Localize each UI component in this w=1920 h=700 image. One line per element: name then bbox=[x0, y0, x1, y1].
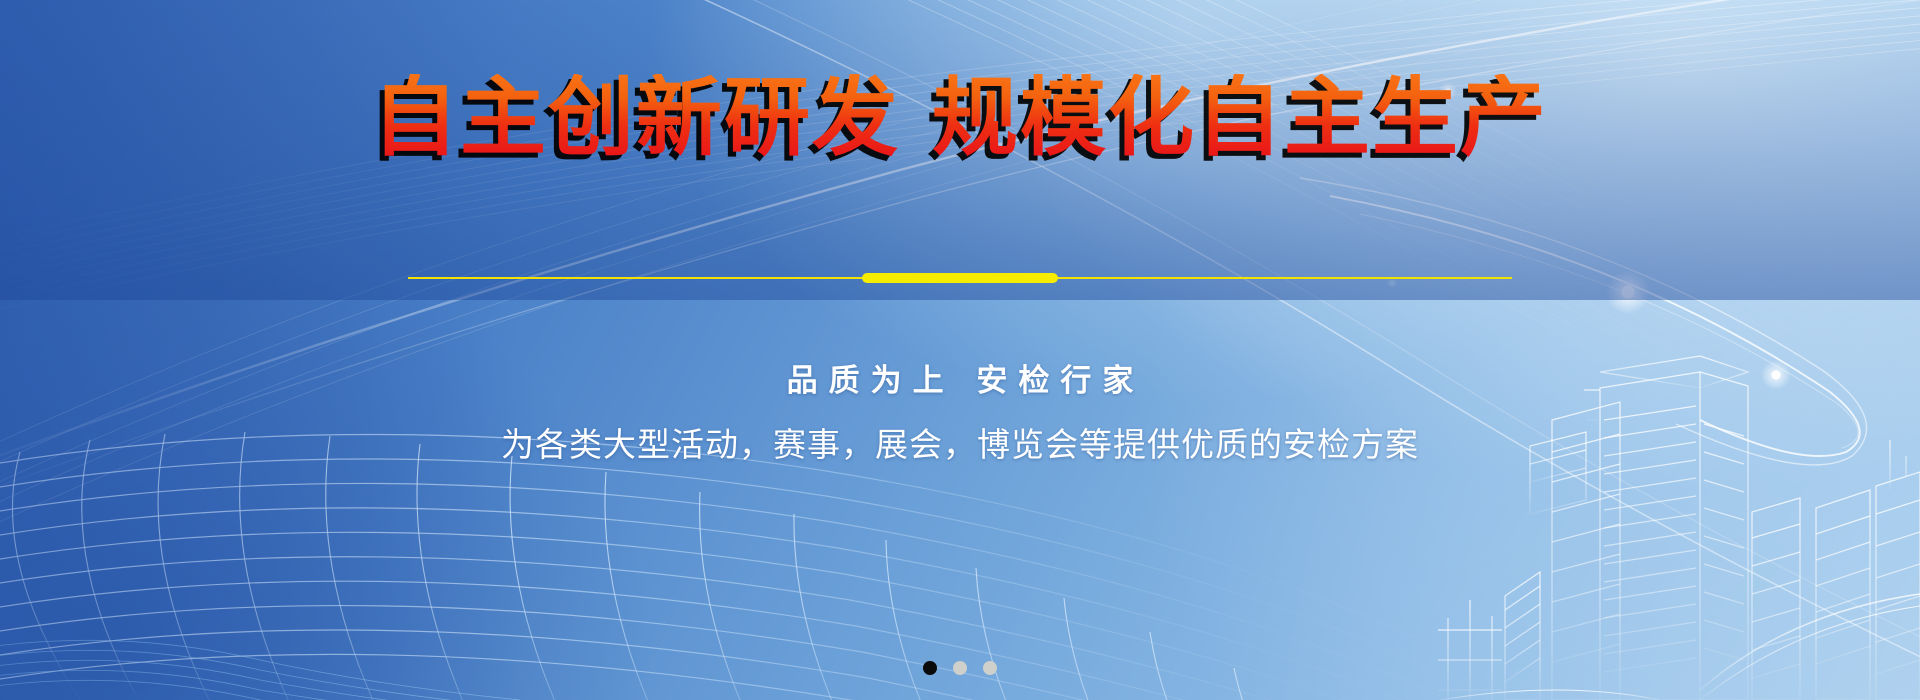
title-container: 自主创新研发 规模化自主生产 bbox=[0, 74, 1920, 163]
subtitle-secondary: 为各类大型活动，赛事，展会，博览会等提供优质的安检方案 bbox=[0, 418, 1920, 466]
subtitle-primary: 品质为上 安检行家 bbox=[0, 355, 1920, 400]
hero-banner: 自主创新研发 规模化自主生产 品质为上 安检行家 为各类大型活动，赛事，展会，博… bbox=[0, 0, 1920, 700]
carousel-indicator[interactable] bbox=[923, 661, 997, 675]
main-headline: 自主创新研发 规模化自主生产 bbox=[372, 74, 1548, 163]
carousel-dot-3[interactable] bbox=[983, 661, 997, 675]
yellow-divider bbox=[408, 272, 1512, 284]
carousel-dot-2[interactable] bbox=[953, 661, 967, 675]
carousel-dot-1[interactable] bbox=[923, 661, 937, 675]
divider-thick-rule bbox=[862, 273, 1058, 283]
